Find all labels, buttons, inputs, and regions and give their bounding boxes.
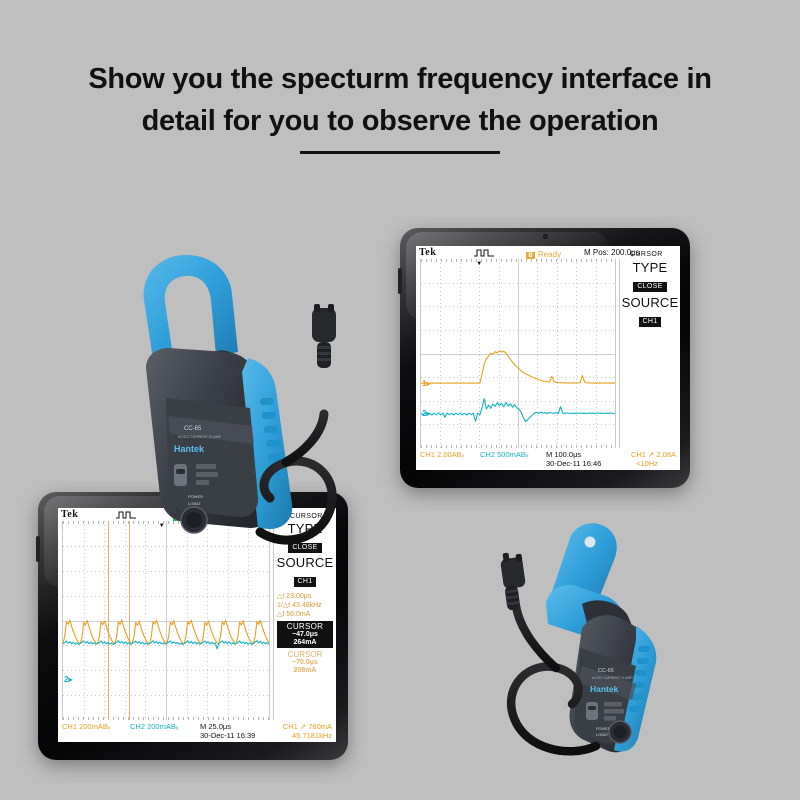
- graticule-bottom: 2▸▼: [62, 521, 270, 720]
- tablet-top: Tek B Ready M Pos: 200.0μs CURSOR 1▸2▸▼ …: [400, 228, 690, 488]
- cursor1-value: 264mA: [277, 639, 333, 647]
- bnc-connector: [312, 304, 336, 368]
- cursor-type-label: TYPE: [620, 261, 680, 275]
- range-label-1: [196, 464, 216, 469]
- tek-logo: Tek: [61, 508, 78, 521]
- square-pulse-icon: [116, 511, 136, 519]
- oscilloscope-screen-top: Tek B Ready M Pos: 200.0μs CURSOR 1▸2▸▼ …: [416, 246, 680, 470]
- square-pulse-icon: [474, 249, 494, 257]
- range-switch-groove: [588, 706, 596, 710]
- lobat-label: LOBAT: [596, 733, 609, 737]
- clamp-model-text: CC-65: [184, 426, 202, 432]
- page-title-line2: detail for you to observe the operation: [0, 100, 800, 142]
- cursor-source-label: SOURCE: [620, 296, 680, 310]
- cursor-panel-bottom: TYPE CLOSE SOURCE CH1 △t 23.00μs 1/△t 43…: [273, 521, 336, 742]
- cursor-type-value[interactable]: CLOSE: [633, 282, 666, 292]
- clamp-probe-top: CC-65 AC/DC CURRENT CLAMP Hantek POWER L…: [108, 248, 344, 454]
- range-label-1: [604, 702, 622, 707]
- delta-i-readout: △I 56.0mA: [274, 610, 336, 619]
- cursor2-title: CURSOR: [274, 650, 336, 659]
- title-underline: [300, 151, 500, 154]
- cursor1-title: CURSOR: [277, 622, 333, 631]
- clamp-label-face: [166, 398, 258, 517]
- waveform-layer: [421, 259, 615, 448]
- page-title-line1: Show you the specturm frequency interfac…: [88, 63, 711, 95]
- clamp-model-text: CC-65: [598, 668, 614, 674]
- bnc-connector: [500, 553, 526, 611]
- waveform-ch2: [421, 399, 615, 422]
- trigger-frequency: 45.7181kHz: [292, 731, 332, 740]
- cursor2-time: −70.0μs: [274, 659, 336, 667]
- cursor-source-value[interactable]: CH1: [294, 577, 317, 587]
- one-over-delta-t-readout: 1/△t 43.48kHz: [274, 601, 336, 610]
- ch2-scale: CH2 200mABᵥ: [130, 722, 178, 731]
- range-switch[interactable]: [174, 464, 187, 486]
- trigger-source: CH1 ↗ 760mA: [283, 722, 332, 731]
- power-label: POWER: [188, 494, 203, 499]
- range-switch-groove: [176, 469, 185, 474]
- volume-button[interactable]: [36, 536, 40, 562]
- front-camera-icon: [543, 234, 548, 239]
- tek-logo: Tek: [419, 246, 436, 259]
- ch1-scale: CH1 2.00ABᵥ: [420, 450, 464, 459]
- clamp-jaw-hole: [585, 537, 596, 548]
- clamp-jaw: [144, 255, 238, 366]
- range-label-2: [196, 472, 218, 477]
- scope-bottom-statusbar: CH1 200mABᵥ CH2 200mABᵥ M 25.0μs 30-Dec-…: [58, 720, 336, 742]
- cursor-panel-top: TYPE CLOSE SOURCE CH1: [619, 259, 680, 470]
- trigger-position-marker[interactable]: ▼: [476, 260, 482, 268]
- channel-marker-2[interactable]: 2▸: [422, 410, 430, 418]
- channel-marker-2[interactable]: 2▸: [64, 676, 72, 684]
- scope-top-statusbar: CH1 2.00ABᵥ CH2 500mABᵥ M 100.0μs 30-Dec…: [416, 448, 680, 470]
- trigger-position-marker[interactable]: ▼: [159, 522, 165, 530]
- lobat-label: LOBAT: [188, 501, 201, 506]
- power-button-inner: [186, 512, 202, 528]
- page-title: Show you the specturm frequency interfac…: [0, 58, 800, 142]
- graticule-top: 1▸2▸▼: [420, 259, 616, 448]
- datetime: 30-Dec-11 16:39: [200, 731, 255, 740]
- cursor2-value: 208mA: [274, 667, 336, 675]
- waveform-ch1: [421, 351, 615, 383]
- clamp-probe-bottom: CC-65 AC/DC CURRENT CLAMP Hantek POWER L…: [486, 520, 686, 750]
- scope-top-header: Tek B Ready M Pos: 200.0μs CURSOR: [416, 246, 680, 259]
- clamp-brand-text: Hantek: [174, 444, 205, 454]
- ch1-scale: CH1 200mABᵥ: [62, 722, 110, 731]
- delta-t-readout: △t 23.00μs: [274, 592, 336, 601]
- probe-cable-upper: [286, 414, 324, 462]
- range-label-3: [196, 480, 209, 485]
- clamp-brand-text: Hantek: [590, 684, 619, 694]
- cursor1-box[interactable]: CURSOR −47.0μs 264mA: [277, 621, 333, 648]
- trigger-source: CH1 ↗ 2.08A: [631, 450, 676, 459]
- trigger-frequency: <10Hz: [636, 459, 658, 468]
- volume-button[interactable]: [398, 268, 402, 294]
- waveform-layer: [63, 521, 269, 720]
- timebase: M 25.0μs: [200, 722, 231, 731]
- channel-marker-1[interactable]: 1▸: [422, 380, 430, 388]
- range-label-3: [604, 716, 616, 721]
- cursor-type-value[interactable]: CLOSE: [288, 543, 321, 553]
- waveform-ch2: [63, 641, 269, 649]
- timebase: M 100.0μs: [546, 450, 581, 459]
- range-label-2: [604, 709, 624, 714]
- cursor1-time: −47.0μs: [277, 631, 333, 639]
- page-root: Show you the specturm frequency interfac…: [0, 0, 800, 800]
- range-switch[interactable]: [586, 702, 598, 720]
- waveform-ch1: [63, 620, 269, 644]
- datetime: 30-Dec-11 16:46: [546, 459, 601, 468]
- clamp-subtitle-text: AC/DC CURRENT CLAMP: [178, 435, 222, 439]
- ch2-scale: CH2 500mABᵥ: [480, 450, 528, 459]
- cursor-source-label: SOURCE: [274, 556, 336, 570]
- clamp-subtitle-text: AC/DC CURRENT CLAMP: [592, 676, 633, 680]
- cursor2-box[interactable]: CURSOR −70.0μs 208mA: [274, 650, 336, 675]
- cursor-source-value[interactable]: CH1: [639, 317, 662, 327]
- power-button-inner: [614, 726, 627, 739]
